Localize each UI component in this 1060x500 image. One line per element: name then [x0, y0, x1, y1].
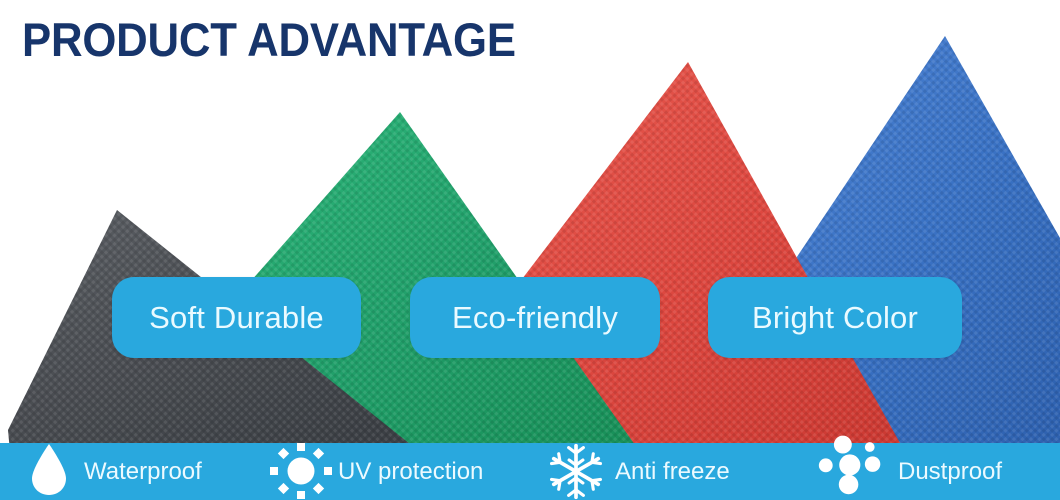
product-advantage-banner: PRODUCT ADVANTAGE Soft Durable Eco-frien…: [0, 0, 1060, 500]
feature-item-label: UV protection: [338, 460, 483, 484]
feature-pill-label: Soft Durable: [149, 300, 324, 336]
feature-item-anti-freeze[interactable]: Anti freeze: [545, 443, 730, 500]
feature-pill-eco-friendly[interactable]: Eco-friendly: [410, 277, 660, 358]
tarpaulin-sheets-illustration: [0, 0, 1060, 500]
feature-item-label: Dustproof: [898, 460, 1002, 484]
sun-icon: [270, 443, 332, 500]
water-drop-icon: [26, 443, 72, 500]
snowflake-icon: [545, 443, 607, 500]
feature-pill-bright-color[interactable]: Bright Color: [708, 277, 962, 358]
page-title: PRODUCT ADVANTAGE: [22, 14, 516, 67]
feature-pill-soft-durable[interactable]: Soft Durable: [112, 277, 361, 358]
feature-item-uv-protection[interactable]: UV protection: [270, 443, 483, 500]
dust-particles-icon: [808, 443, 894, 500]
feature-item-waterproof[interactable]: Waterproof: [26, 443, 202, 500]
feature-item-label: Waterproof: [84, 460, 202, 484]
feature-pill-label: Eco-friendly: [452, 300, 618, 336]
feature-pill-label: Bright Color: [752, 300, 918, 336]
feature-item-dustproof[interactable]: Dustproof: [808, 443, 1002, 500]
feature-bar: Waterproof UV protection: [0, 443, 1060, 500]
feature-item-label: Anti freeze: [615, 460, 730, 484]
